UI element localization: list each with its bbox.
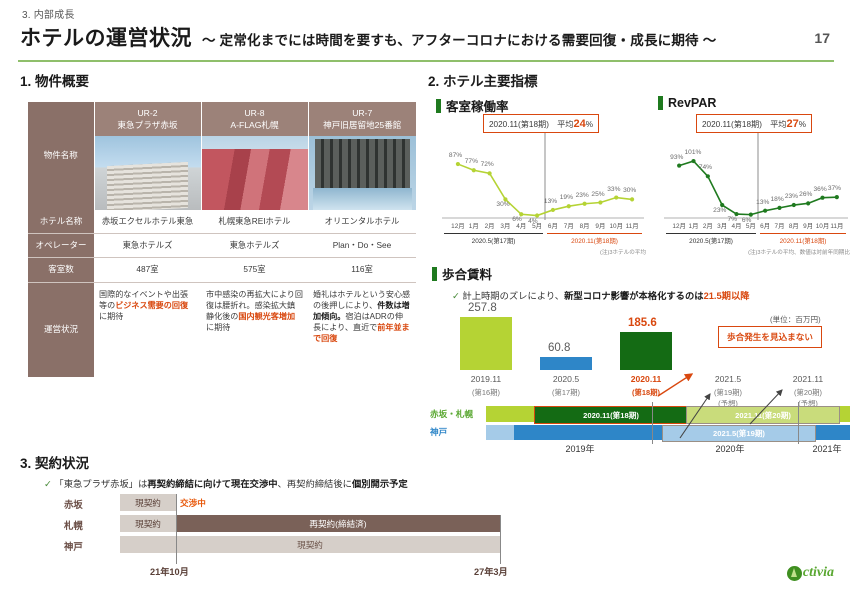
property-code-2: UR-7: [352, 108, 372, 118]
row-header-status: 運営状況: [28, 282, 94, 377]
photo-cell-1: [201, 136, 308, 210]
accent-bar-icon: [432, 267, 437, 281]
rooms-2: 116室: [308, 258, 416, 282]
contract-row-label: 神戸: [64, 539, 83, 553]
contract-seg-current[interactable]: 現契約: [120, 494, 176, 511]
section-fee-heading: 歩合賃料: [432, 264, 492, 283]
row-header-hotel-name: ホテル名称: [28, 210, 94, 234]
data-label: 77%: [465, 158, 478, 165]
section-1-heading: 1. 物件概要: [20, 70, 89, 90]
table-row-hotel-name: ホテル名称 赤坂エクセルホテル東急 札幌東急REIホテル オリエンタルホテル: [28, 210, 416, 234]
contract-axis-label-end: 27年3月: [474, 564, 508, 578]
chart-title-revpar: RevPAR: [658, 96, 716, 110]
section-3-heading: 3. 契約状況: [20, 452, 89, 472]
contract-timeline: 赤坂現契約交渉中札幌現契約再契約(締結済)神戸現契約21年10月27年3月: [20, 494, 520, 574]
x-axis-tick: 11月: [828, 221, 846, 230]
slide-eyebrow: 3. 内部成長: [22, 6, 75, 21]
data-label: 26%: [799, 191, 812, 198]
table-row-rooms: 客室数 487室 575室 116室: [28, 258, 416, 282]
data-label: 33%: [607, 186, 620, 193]
contract-seg-renewed[interactable]: 再契約(締結済): [176, 515, 500, 532]
status-text-1: 市中感染の再拡大により回復は腰折れ。感染拡大鎮静化後の国内観光客増加に期待: [201, 282, 308, 377]
slide-root: 3. 内部成長 ホテルの運営状況 ～ 定常化までには時間を要すも、アフターコロナ…: [0, 0, 852, 591]
period-arrow-right: [760, 233, 846, 234]
property-name-0: 東急プラザ赤坂: [117, 120, 177, 130]
contract-divider-start: [176, 494, 177, 564]
property-cell-0: UR-2 東急プラザ赤坂: [94, 102, 201, 136]
contract-row-label: 赤坂: [64, 497, 83, 511]
data-label: 13%: [544, 198, 557, 205]
chart-occupancy-rate: 87%77%72%30%6%4%13%19%23%25%33%30%12月1月2…: [436, 112, 646, 252]
data-label: 101%: [685, 149, 702, 156]
hotel-photo-sapporo: [202, 136, 308, 210]
contract-seg-current[interactable]: 現契約: [120, 515, 176, 532]
contract-row-label: 札幌: [64, 518, 83, 532]
page-number: 17: [814, 30, 830, 46]
data-label: 13%: [756, 199, 769, 206]
table-row-operator: オペレーター 東急ホテルズ 東急ホテルズ Plan・Do・See: [28, 234, 416, 258]
property-overview-table: 物件名称 UR-2 東急プラザ赤坂 UR-8 A-FLAG札幌 UR-7 神戸旧…: [28, 102, 416, 377]
table-row-property-name: 物件名称 UR-2 東急プラザ赤坂 UR-8 A-FLAG札幌 UR-7 神戸旧…: [28, 102, 416, 136]
row-header-property-name: 物件名称: [28, 102, 94, 210]
chart-footnote: (注)3ホテルの平均、数値は対前年同期比: [748, 248, 850, 256]
photo-cell-0: [94, 136, 201, 210]
period-label-left: 2020.5(第17期): [444, 236, 543, 245]
status-text-0: 国際的なイベントや出張等のビジネス需要の回復に期待: [94, 282, 201, 377]
property-code-1: UR-8: [244, 108, 264, 118]
section-2-heading: 2. ホテル主要指標: [428, 70, 538, 90]
data-label: 30%: [496, 201, 509, 208]
operator-2: Plan・Do・See: [308, 234, 416, 258]
property-cell-1: UR-8 A-FLAG札幌: [201, 102, 308, 136]
contract-seg-negotiating[interactable]: 交渉中: [180, 494, 206, 511]
fee-timeline: 赤坂・札幌神戸2020.11(第18期)2021.11(第20期)2021.5(…: [430, 404, 850, 454]
activia-logo: ctivia: [787, 565, 834, 581]
operator-0: 東急ホテルズ: [94, 234, 201, 258]
data-label: 72%: [481, 161, 494, 168]
data-label: 23%: [713, 207, 726, 214]
data-label: 19%: [560, 194, 573, 201]
property-cell-2: UR-7 神戸旧居留地25番館: [308, 102, 416, 136]
header-divider: [18, 60, 834, 62]
revpar-label: RevPAR: [668, 96, 716, 110]
data-label: 93%: [670, 154, 683, 161]
accent-bar-icon: [436, 99, 441, 113]
property-name-2: 神戸旧居留地25番館: [323, 120, 401, 130]
operator-1: 東急ホテルズ: [201, 234, 308, 258]
chart-percentage-rent: 257.82019.11(第16期)60.82020.5(第17期)185.62…: [430, 300, 850, 400]
data-label: 23%: [785, 193, 798, 200]
hotel-name-1: 札幌東急REIホテル: [201, 210, 308, 234]
chart-callout: 2020.11(第18期) 平均27%: [696, 114, 812, 133]
period-arrow-right: [547, 233, 642, 234]
hotel-name-0: 赤坂エクセルホテル東急: [94, 210, 201, 234]
property-code-0: UR-2: [137, 108, 157, 118]
chart-callout: 2020.11(第18期) 平均24%: [483, 114, 599, 133]
accent-bar-icon: [658, 96, 663, 110]
data-label: 18%: [771, 196, 784, 203]
data-label: 87%: [449, 152, 462, 159]
contract-divider-end: [500, 515, 501, 564]
contract-axis-label-start: 21年10月: [150, 564, 189, 578]
status-text-2: 婚礼はホテルという安心感の後押しにより、件数は増加傾向。宿泊はADRの伸長により…: [308, 282, 416, 377]
contract-seg-current-kobe[interactable]: 現契約: [120, 536, 500, 553]
page-title: ホテルの運営状況: [20, 22, 192, 52]
period-arrow-left: [666, 233, 756, 234]
data-label: 37%: [828, 185, 841, 192]
slide-header: ホテルの運営状況 ～ 定常化までには時間を要すも、アフターコロナにおける需要回復…: [20, 22, 716, 52]
hotel-photo-akasaka: [95, 136, 201, 210]
x-axis-tick: 11月: [623, 221, 641, 230]
period-label-right: 2020.11(第18期): [760, 236, 846, 245]
row-header-operator: オペレーター: [28, 234, 94, 258]
photo-cell-2: [308, 136, 416, 210]
hotel-name-2: オリエンタルホテル: [308, 210, 416, 234]
check-icon: ✓: [44, 479, 52, 489]
chart-footnote: (注)3ホテルの平均: [600, 248, 646, 256]
contract-check-line: ✓ 「東急プラザ赤坂」は再契約締結に向けて現在交渉中、再契約締結後に個別開示予定: [44, 476, 408, 490]
property-name-1: A-FLAG札幌: [230, 120, 278, 130]
data-label: 25%: [591, 191, 604, 198]
activia-wordmark: ctivia: [803, 565, 834, 581]
hotel-photo-kobe: [309, 136, 417, 210]
data-label: 74%: [699, 164, 712, 171]
data-label: 30%: [623, 187, 636, 194]
period-label-left: 2020.5(第17期): [666, 236, 756, 245]
rooms-0: 487室: [94, 258, 201, 282]
contract-check-text: 「東急プラザ赤坂」は再契約締結に向けて現在交渉中、再契約締結後に個別開示予定: [54, 479, 407, 489]
rooms-1: 575室: [201, 258, 308, 282]
chart-revpar: 93%101%74%23%7%6%13%18%23%26%36%37%12月1月…: [658, 112, 850, 252]
data-label: 23%: [576, 192, 589, 199]
activia-mark-icon: [787, 566, 802, 581]
table-row-status: 運営状況 国際的なイベントや出張等のビジネス需要の回復に期待 市中感染の再拡大に…: [28, 282, 416, 377]
page-subtitle: ～ 定常化までには時間を要すも、アフターコロナにおける需要回復・成長に期待 ～: [202, 29, 716, 49]
fee-title: 歩合賃料: [442, 264, 492, 283]
data-label: 36%: [814, 186, 827, 193]
row-header-rooms: 客室数: [28, 258, 94, 282]
period-label-right: 2020.11(第18期): [547, 236, 642, 245]
period-arrow-left: [444, 233, 543, 234]
